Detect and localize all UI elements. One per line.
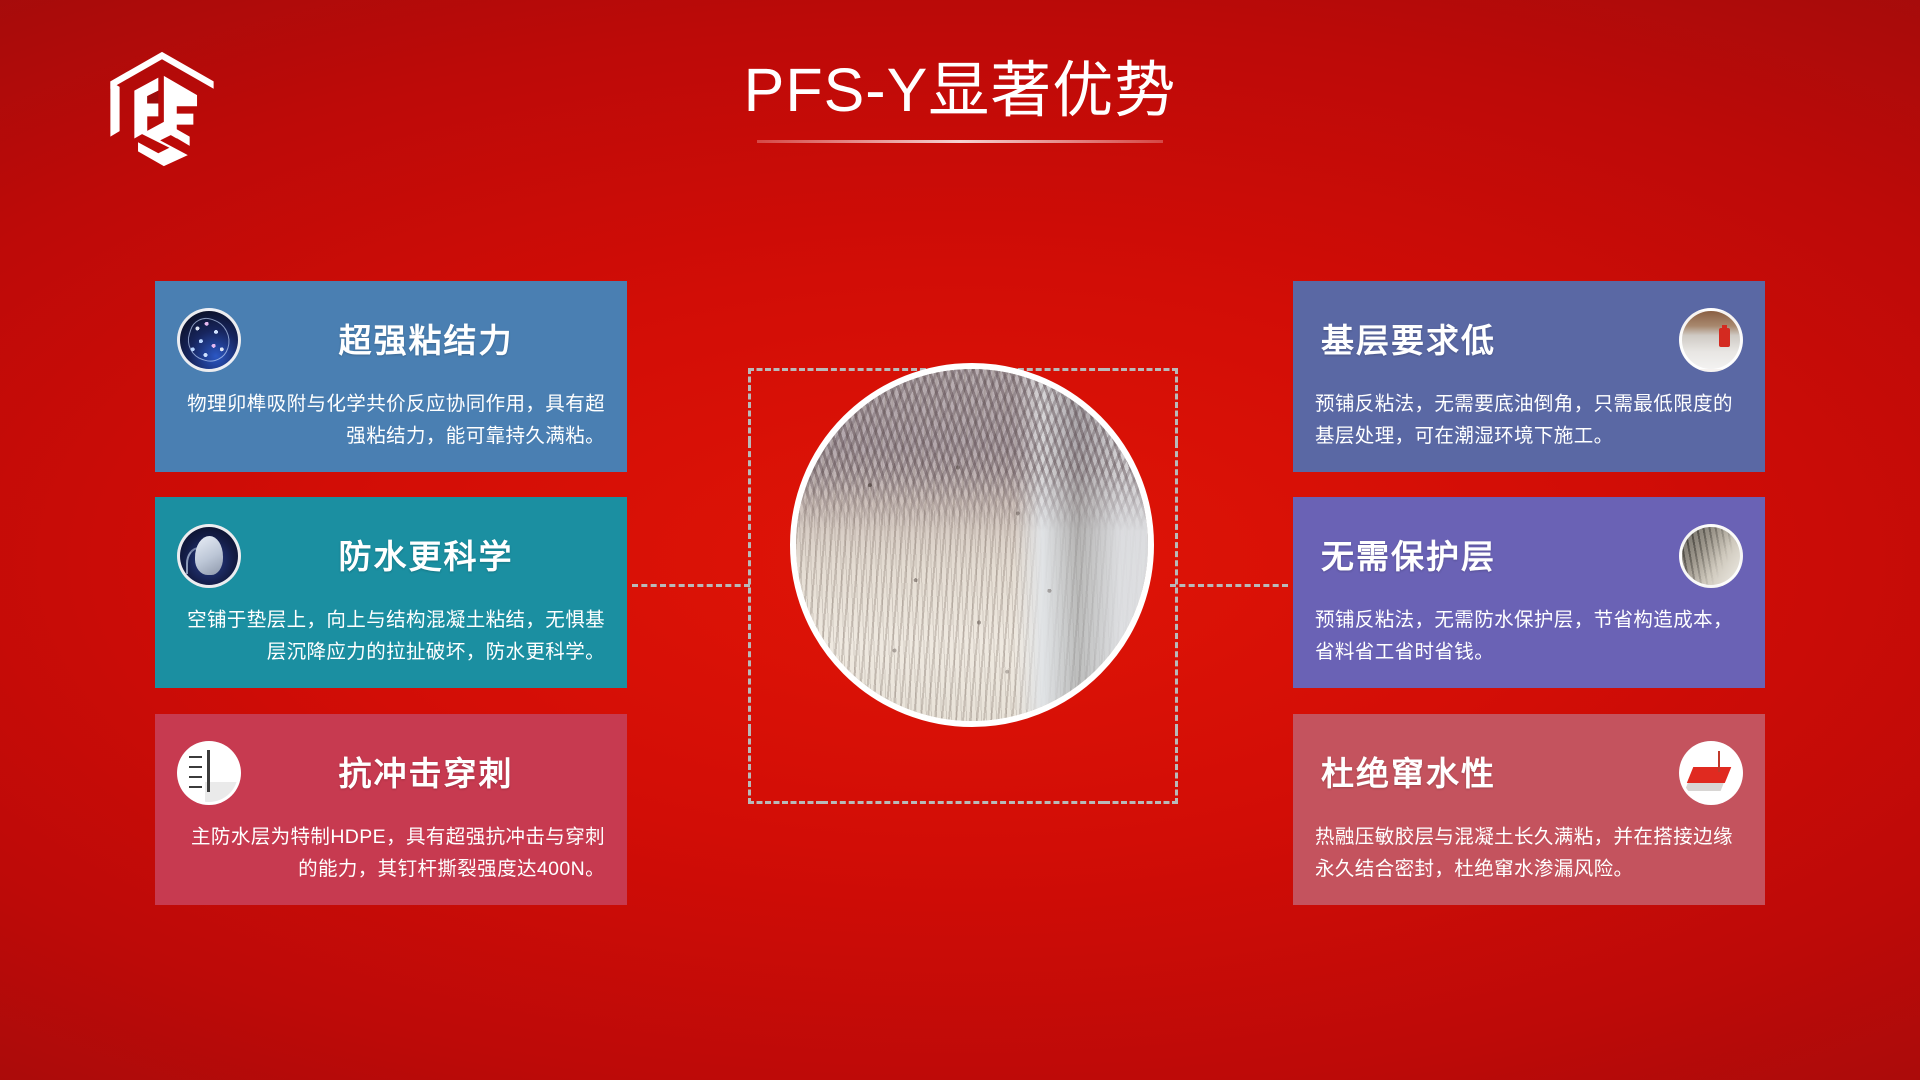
feature-card-impact[interactable]: 抗冲击穿刺 主防水层为特制HDPE，具有超强抗冲击与穿刺的能力，其钉杆撕裂强度达… xyxy=(155,714,627,905)
card-header: 防水更科学 xyxy=(177,513,605,599)
frame-corner-bottom-left xyxy=(748,730,822,804)
substrate-icon xyxy=(1679,308,1743,372)
molecule-icon xyxy=(177,308,241,372)
card-header: 抗冲击穿刺 xyxy=(177,730,605,816)
product-fiber-closeup-photo xyxy=(790,363,1154,727)
puncture-test-icon xyxy=(177,741,241,805)
card-title: 防水更科学 xyxy=(241,540,605,573)
feature-card-adhesion[interactable]: 超强粘结力 物理卯榫吸附与化学共价反应协同作用，具有超强粘结力，能可靠持久满粘。 xyxy=(155,281,627,472)
connector-line-left xyxy=(632,584,750,587)
feature-card-noprotect[interactable]: 无需保护层 预铺反粘法，无需防水保护层，节省构造成本，省料省工省时省钱。 xyxy=(1293,497,1765,688)
card-header: 基层要求低 xyxy=(1315,297,1743,383)
card-body-text: 热融压敏胶层与混凝土长久满粘，并在搭接边缘永久结合密封，杜绝窜水渗漏风险。 xyxy=(1315,822,1743,885)
no-protection-layer-icon xyxy=(1679,524,1743,588)
connector-line-right xyxy=(1170,584,1288,587)
card-header: 无需保护层 xyxy=(1315,513,1743,599)
card-title: 杜绝窜水性 xyxy=(1315,757,1679,790)
ai-head-icon xyxy=(177,524,241,588)
card-body-text: 空铺于垫层上，向上与结构混凝土粘结，无惧基层沉降应力的拉扯破坏，防水更科学。 xyxy=(177,605,605,668)
card-title: 基层要求低 xyxy=(1315,324,1679,357)
slide-canvas: PFS-Y显著优势 超强粘结力 物理卯榫吸附与化学共价反应协同作用，具有超强粘结… xyxy=(0,0,1920,1080)
card-body-text: 物理卯榫吸附与化学共价反应协同作用，具有超强粘结力，能可靠持久满粘。 xyxy=(177,389,605,452)
frame-corner-bottom-right xyxy=(1104,730,1178,804)
feature-card-waterstop[interactable]: 杜绝窜水性 热融压敏胶层与混凝土长久满粘，并在搭接边缘永久结合密封，杜绝窜水渗漏… xyxy=(1293,714,1765,905)
card-header: 杜绝窜水性 xyxy=(1315,730,1743,816)
photo-speckle-layer xyxy=(796,369,1148,721)
water-seal-icon xyxy=(1679,741,1743,805)
card-title: 无需保护层 xyxy=(1315,540,1679,573)
card-header: 超强粘结力 xyxy=(177,297,605,383)
card-title: 抗冲击穿刺 xyxy=(241,757,605,790)
page-title: PFS-Y显著优势 xyxy=(0,58,1920,124)
frame-edge-bottom xyxy=(822,801,1104,804)
card-body-text: 预铺反粘法，无需防水保护层，节省构造成本，省料省工省时省钱。 xyxy=(1315,605,1743,668)
feature-card-substrate[interactable]: 基层要求低 预铺反粘法，无需要底油倒角，只需最低限度的基层处理，可在潮湿环境下施… xyxy=(1293,281,1765,472)
title-underline xyxy=(757,140,1163,143)
card-body-text: 主防水层为特制HDPE，具有超强抗冲击与穿刺的能力，其钉杆撕裂强度达400N。 xyxy=(177,822,605,885)
feature-card-science[interactable]: 防水更科学 空铺于垫层上，向上与结构混凝土粘结，无惧基层沉降应力的拉扯破坏，防水… xyxy=(155,497,627,688)
card-title: 超强粘结力 xyxy=(241,324,605,357)
card-body-text: 预铺反粘法，无需要底油倒角，只需最低限度的基层处理，可在潮湿环境下施工。 xyxy=(1315,389,1743,452)
title-block: PFS-Y显著优势 xyxy=(0,58,1920,143)
